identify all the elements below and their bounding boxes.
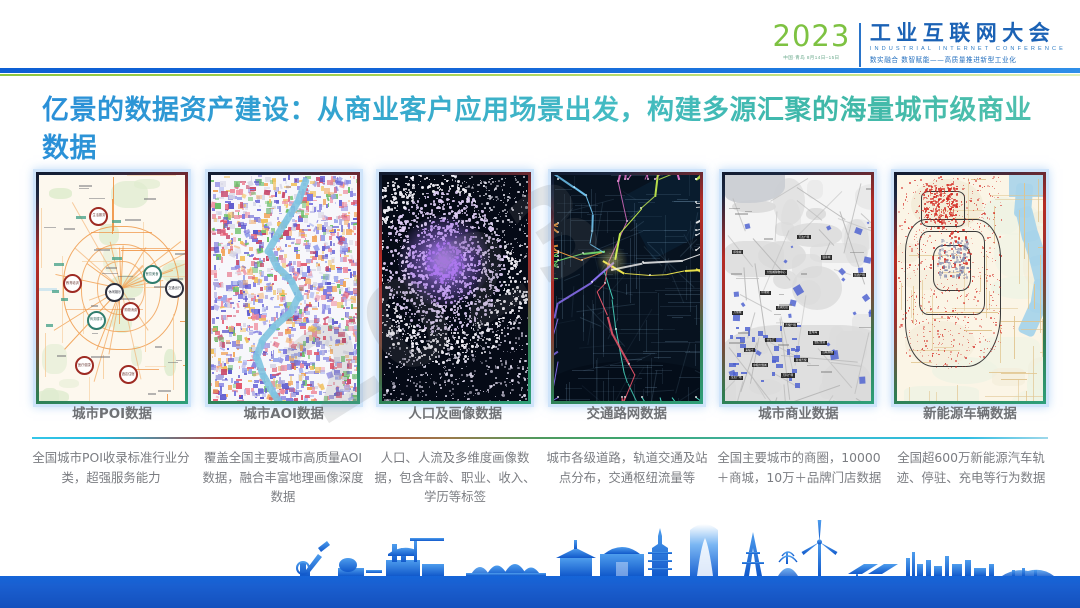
commerce-label: 万达广场 <box>797 235 811 239</box>
commerce-label: 合生汇 <box>765 338 776 342</box>
skyline-silhouette-icon <box>0 518 1080 582</box>
commerce-label: 爱琴海 <box>808 331 819 335</box>
poi-marker[interactable]: 商务楼宇 <box>87 311 106 330</box>
commerce-label: 百联购物 <box>821 351 835 355</box>
commerce-label: 凯德广场 <box>853 273 867 277</box>
card-label-city-aoi: 城市AOI数据 <box>208 408 360 434</box>
footer-skyline <box>0 516 1080 608</box>
card-city-aoi-image <box>211 175 357 401</box>
card-desc-traffic-network: 城市各级道路，轨道交通及站点分布，交通枢纽流量等 <box>544 448 710 507</box>
page-title: 亿景的数据资产建设：从商业客户应用场景出发，构建多源汇聚的海量城市级商业数据 <box>42 92 1032 169</box>
accent-bar-green <box>0 74 1080 77</box>
logo-year: 2023 <box>773 22 851 51</box>
transit-network-map <box>554 175 700 401</box>
card-city-poi-image: 生活服务休闲娱乐餐饮美食购物消费交通出行教育培训商务楼宇医疗健康酒店住宿 <box>39 175 185 401</box>
population-density-map <box>382 175 528 401</box>
card-desc-city-poi: 全国城市POI收录标准行业分类，超强服务能力 <box>28 448 194 507</box>
card-city-aoi[interactable] <box>208 172 360 404</box>
card-population-profile[interactable] <box>379 172 531 404</box>
commerce-label: 龙湖天街 <box>776 306 790 310</box>
card-desc-population-profile: 人口、人流及多维度画像数据，包含年龄、职业、收入、学历等标签 <box>372 448 538 507</box>
logo-year-meta: 中国·青岛 8月14日–15日 <box>783 55 839 61</box>
commerce-label: 万象城 <box>732 311 743 315</box>
commerce-label: 宝龙广场 <box>729 376 743 380</box>
card-label-traffic-network: 交通路网数据 <box>551 408 703 434</box>
poi-marker[interactable]: 生活服务 <box>89 207 108 226</box>
card-label-city-commerce: 城市商业数据 <box>722 408 874 434</box>
card-desc-new-energy-vehicle: 全国超600万新能源汽车轨迹、停驻、充电等行为数据 <box>888 448 1054 507</box>
logo-name-block: 工业互联网大会 INDUSTRIAL INTERNET CONFERENCE 数… <box>861 22 1066 64</box>
poi-marker[interactable]: 医疗健康 <box>75 356 94 375</box>
poi-marker[interactable]: 餐饮美食 <box>143 265 162 284</box>
aoi-polygon-map <box>211 175 357 401</box>
commerce-poi-map: 万达广场银泰城大悦城购物中心环球港凯德广场龙湖天街印象城万象城吾悦广场爱琴海世纪… <box>725 175 871 401</box>
footer-ground <box>0 576 1080 608</box>
commerce-label: 印象城 <box>732 250 743 254</box>
skyline-shapes <box>297 520 1054 576</box>
commerce-label: 吾悦广场 <box>784 323 798 327</box>
card-desc-city-aoi: 覆盖全国主要城市高质量AOI数据，融合丰富地理画像深度数据 <box>200 448 366 507</box>
commerce-label: 大悦城购物中心 <box>765 270 787 274</box>
logo-year-block: 2023 中国·青岛 8月14日–15日 <box>773 22 860 61</box>
card-label-new-energy-vehicle: 新能源车辆数据 <box>894 408 1046 434</box>
logo-name-cn: 工业互联网大会 <box>870 22 1066 44</box>
commerce-label: 环球港 <box>760 291 771 295</box>
card-city-poi[interactable]: 生活服务休闲娱乐餐饮美食购物消费交通出行教育培训商务楼宇医疗健康酒店住宿 <box>36 172 188 404</box>
card-traffic-network-image <box>554 175 700 401</box>
card-label-row: 城市POI数据 城市AOI数据 人口及画像数据 交通路网数据 城市商业数据 新能… <box>36 408 1046 434</box>
card-population-profile-image <box>382 175 528 401</box>
ev-trajectory-map <box>897 175 1043 401</box>
commerce-label: 中粮大悦城 <box>752 363 768 367</box>
commerce-label: 世纪金源 <box>813 341 827 345</box>
card-label-population-profile: 人口及画像数据 <box>379 408 531 434</box>
poi-road-map: 生活服务休闲娱乐餐饮美食购物消费交通出行教育培训商务楼宇医疗健康酒店住宿 <box>39 175 185 401</box>
card-desc-city-commerce: 全国主要城市的商圈，10000＋商城，10万＋品牌门店数据 <box>716 448 882 507</box>
poi-marker[interactable]: 交通出行 <box>165 279 184 298</box>
poi-marker[interactable]: 酒店住宿 <box>119 365 138 384</box>
commerce-label: 万科广场 <box>781 373 795 377</box>
commerce-label: 银泰城 <box>821 255 832 259</box>
commerce-label: 新城吾悦 <box>794 358 808 362</box>
right-edge-fade <box>1070 76 1080 516</box>
logo-slogan: 数实融合 数智赋能——高质量推进新型工业化 <box>870 54 1066 64</box>
card-city-commerce-image: 万达广场银泰城大悦城购物中心环球港凯德广场龙湖天街印象城万象城吾悦广场爱琴海世纪… <box>725 175 871 401</box>
data-asset-card-row: 生活服务休闲娱乐餐饮美食购物消费交通出行教育培训商务楼宇医疗健康酒店住宿 万达广… <box>36 172 1046 404</box>
card-traffic-network[interactable] <box>551 172 703 404</box>
card-new-energy-vehicle[interactable] <box>894 172 1046 404</box>
card-label-city-poi: 城市POI数据 <box>36 408 188 434</box>
section-divider <box>32 437 1048 439</box>
poi-marker[interactable]: 购物消费 <box>121 302 140 321</box>
logo-name-en: INDUSTRIAL INTERNET CONFERENCE <box>870 46 1066 52</box>
card-new-energy-vehicle-image <box>897 175 1043 401</box>
conference-logo: 2023 中国·青岛 8月14日–15日 工业互联网大会 INDUSTRIAL … <box>773 22 1067 72</box>
card-description-row: 全国城市POI收录标准行业分类，超强服务能力 覆盖全国主要城市高质量AOI数据，… <box>28 448 1054 507</box>
card-city-commerce[interactable]: 万达广场银泰城大悦城购物中心环球港凯德广场龙湖天街印象城万象城吾悦广场爱琴海世纪… <box>722 172 874 404</box>
commerce-label: 来福士 <box>744 348 755 352</box>
